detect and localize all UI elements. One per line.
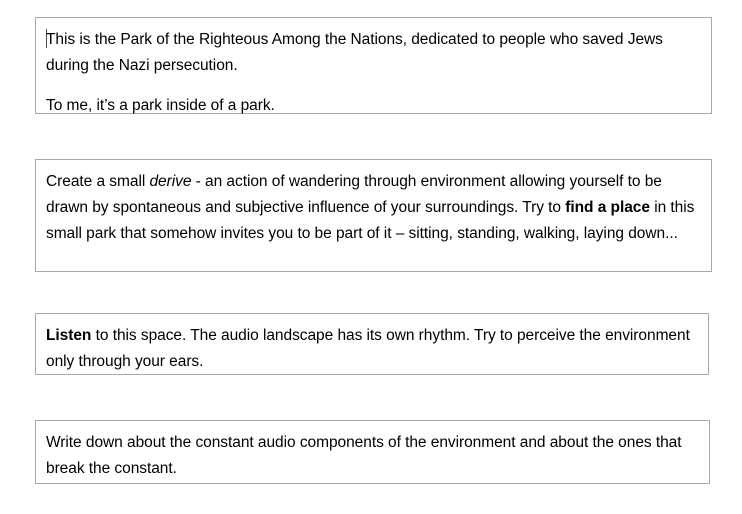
write-down-instruction-text-box[interactable]: Write down about the constant audio comp… bbox=[35, 420, 710, 484]
run-bold-find-a-place: find a place bbox=[565, 199, 650, 216]
description-text-box[interactable]: This is the Park of the Righteous Among … bbox=[35, 17, 712, 114]
paragraph: To me, it’s a park inside of a park. bbox=[46, 93, 700, 119]
paragraph-text: This is the Park of the Righteous Among … bbox=[46, 31, 663, 74]
run-italic-derive: derive bbox=[149, 173, 191, 190]
run-plain: Create a small bbox=[46, 173, 149, 190]
paragraph: Write down about the constant audio comp… bbox=[46, 430, 698, 482]
paragraph: Create a small derive - an action of wan… bbox=[46, 169, 700, 247]
paragraph: Listen to this space. The audio landscap… bbox=[46, 323, 697, 375]
derive-instruction-text-box[interactable]: Create a small derive - an action of wan… bbox=[35, 159, 712, 272]
run-plain: Write down about the constant audio comp… bbox=[46, 434, 682, 477]
paragraph: This is the Park of the Righteous Among … bbox=[46, 27, 700, 79]
run-bold-listen: Listen bbox=[46, 327, 91, 344]
run-plain: to this space. The audio landscape has i… bbox=[46, 327, 690, 370]
listen-instruction-text-box[interactable]: Listen to this space. The audio landscap… bbox=[35, 313, 709, 375]
document-canvas: This is the Park of the Righteous Among … bbox=[0, 0, 742, 514]
paragraph-text: To me, it’s a park inside of a park. bbox=[46, 97, 275, 114]
